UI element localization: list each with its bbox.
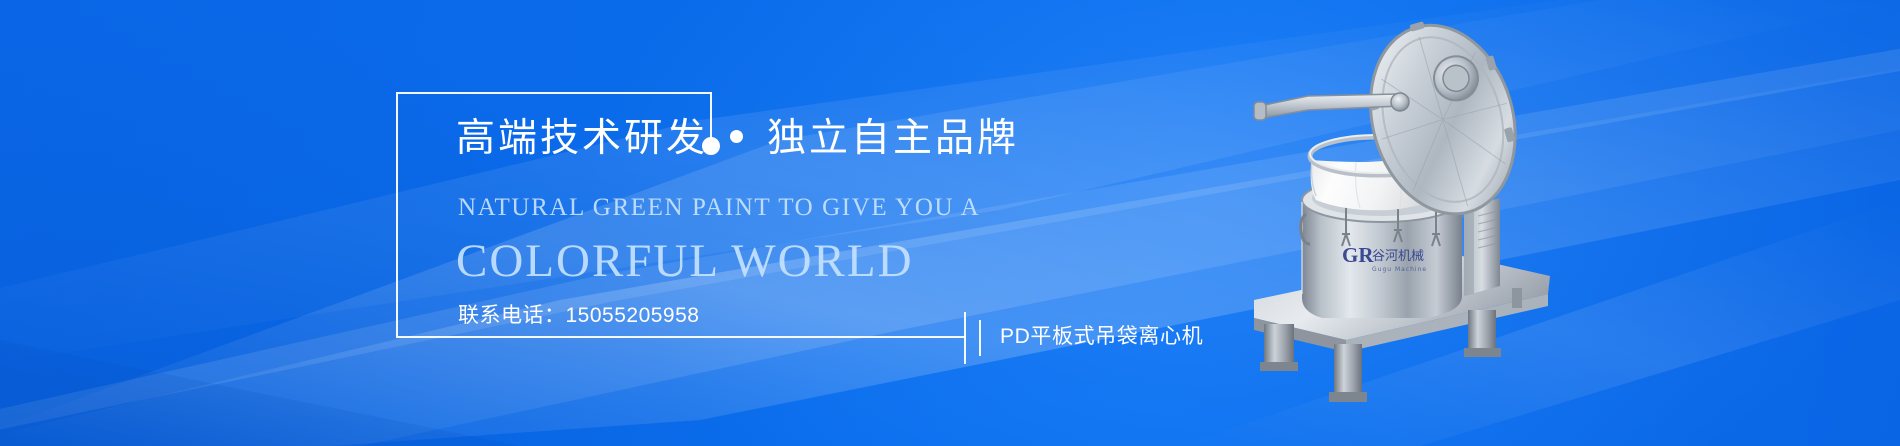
product-caption: PD平板式吊袋离心机 [1000, 322, 1203, 352]
subtitle-line-1: NATURAL GREEN PAINT TO GIVE YOU A [458, 193, 980, 223]
promo-banner: 高端技术研发独立自主品牌 NATURAL GREEN PAINT TO GIVE… [0, 0, 1900, 446]
bullet-dot-icon [730, 130, 743, 143]
caption-tick-long [964, 312, 966, 364]
headline-right: 独立自主品牌 [767, 117, 1019, 160]
contact-phone[interactable]: 联系电话：15055205958 [458, 302, 699, 330]
product-photo: GR 谷河机械 Gugu Machine [1250, 10, 1610, 430]
centrifuge-illustration: GR 谷河机械 Gugu Machine [1250, 10, 1610, 430]
headline: 高端技术研发独立自主品牌 [456, 113, 1019, 165]
svg-text:谷河机械: 谷河机械 [1372, 249, 1424, 264]
svg-text:GR: GR [1342, 243, 1374, 267]
background-light-streaks [0, 0, 1900, 446]
caption-tick-short [979, 320, 981, 356]
caption-rule [712, 336, 966, 338]
svg-text:Gugu Machine: Gugu Machine [1372, 266, 1427, 273]
subtitle-line-2: COLORFUL WORLD [456, 232, 914, 290]
headline-left: 高端技术研发 [456, 117, 708, 160]
